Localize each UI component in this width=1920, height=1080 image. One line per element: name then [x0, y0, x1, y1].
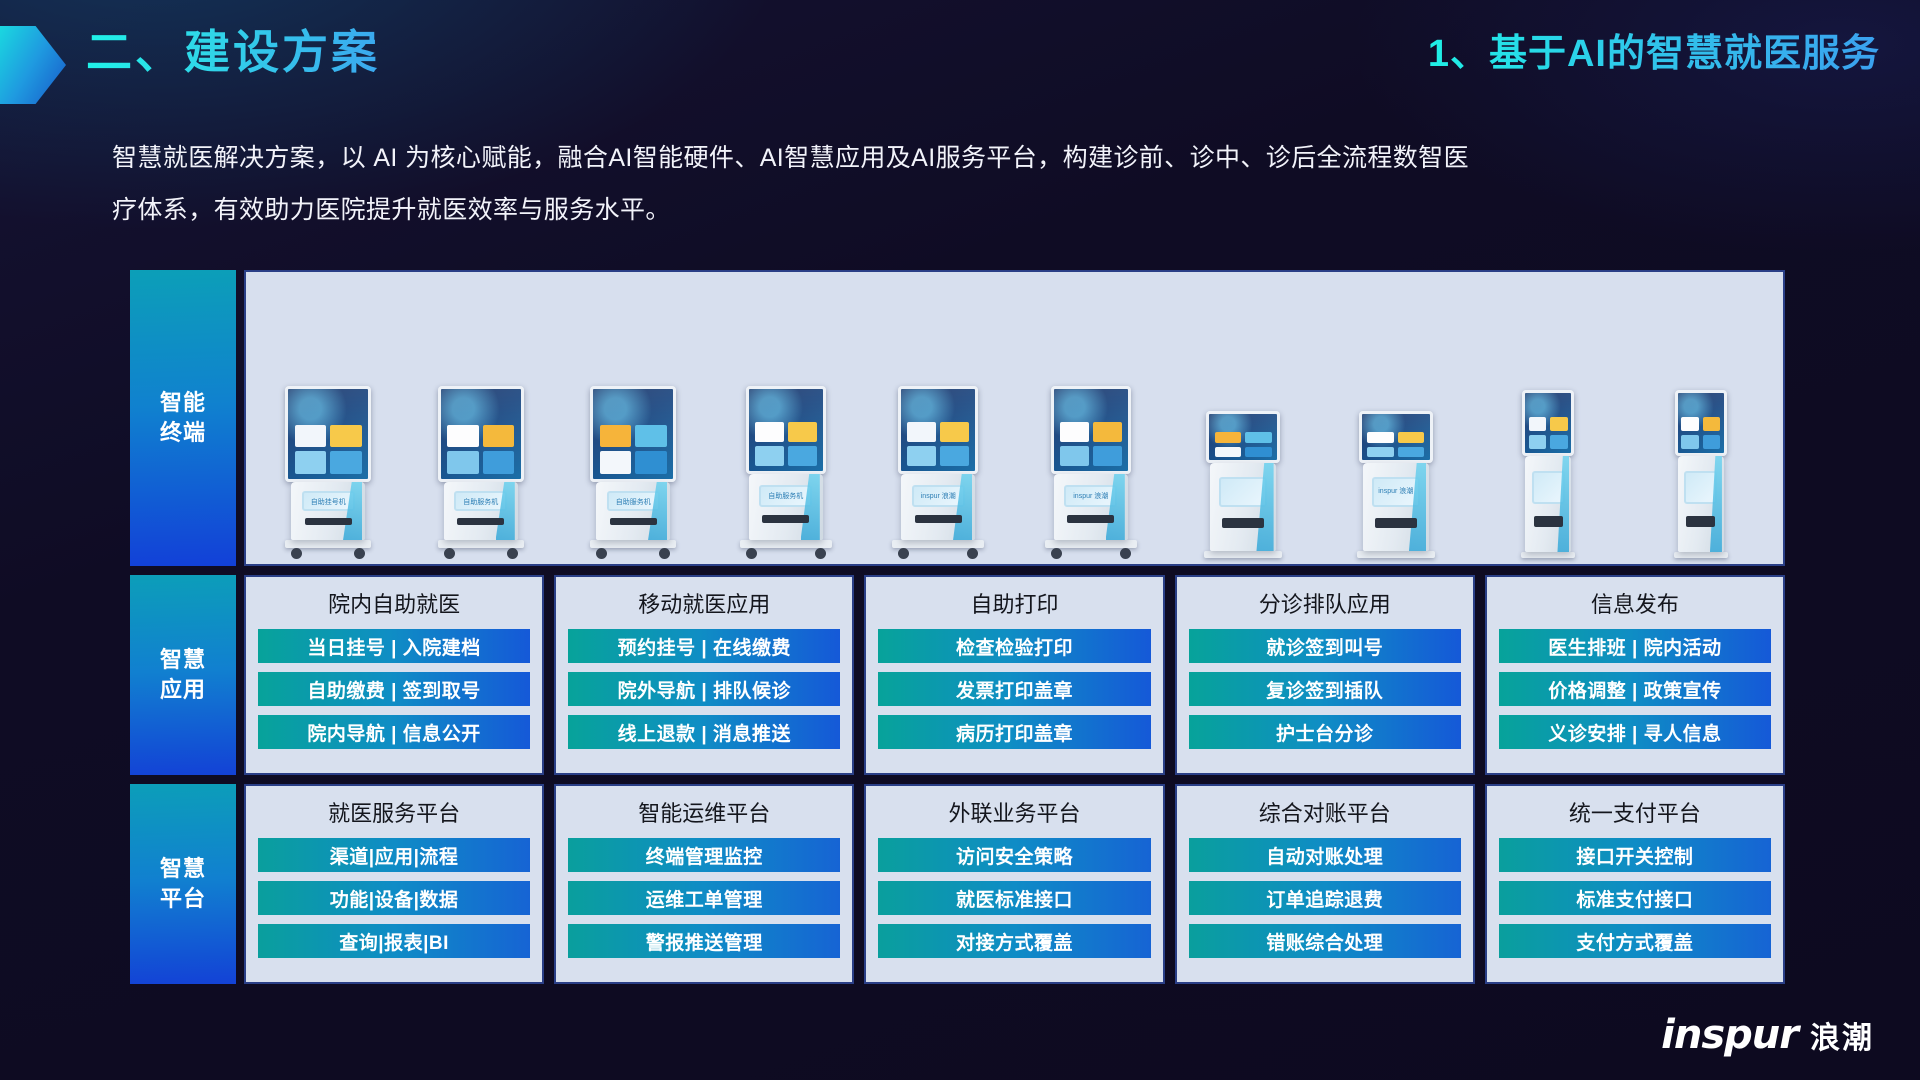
kiosk-wheels [590, 548, 676, 558]
pill-item[interactable]: 义诊安排 | 寻人信息 [1499, 715, 1771, 749]
card-title: 信息发布 [1499, 587, 1771, 623]
kiosk-card-slot-icon [1534, 516, 1563, 528]
kiosk-wheels [285, 548, 371, 558]
kiosk-caption: 自助服务机 [768, 491, 803, 501]
kiosk-card-slot-icon [610, 518, 657, 525]
kiosk-body [1525, 456, 1571, 552]
kiosk-body: 自助服务机 [444, 482, 518, 540]
pill-item[interactable]: 运维工单管理 [568, 881, 840, 915]
kiosk-body [1210, 463, 1276, 551]
card-title: 智能运维平台 [568, 796, 840, 832]
card[interactable]: 院内自助就医当日挂号 | 入院建档自助缴费 | 签到取号院内导航 | 信息公开 [244, 575, 544, 775]
kiosk-screen-icon [285, 386, 371, 482]
platform-cards: 就医服务平台渠道|应用|流程功能|设备|数据查询|报表|BI智能运维平台终端管理… [244, 784, 1785, 984]
inspur-chinese-name: 浪潮 [1810, 1013, 1874, 1057]
pill-list: 就诊签到叫号复诊签到插队护士台分诊 [1189, 629, 1461, 763]
card-title: 就医服务平台 [258, 796, 530, 832]
kiosk-card-slot-icon [1375, 518, 1417, 529]
card-title: 分诊排队应用 [1189, 587, 1461, 623]
kiosk-card-slot-icon [1686, 516, 1715, 528]
kiosk-caption: inspur 浪潮 [1073, 491, 1108, 501]
inspur-wordmark: inspur [1661, 1012, 1798, 1058]
kiosk-card-slot-icon [762, 515, 809, 523]
pill-list: 当日挂号 | 入院建档自助缴费 | 签到取号院内导航 | 信息公开 [258, 629, 530, 763]
terminals-panel: 自助挂号机自助服务机自助服务机自助服务机inspur 浪潮inspur 浪潮in… [244, 270, 1785, 566]
kiosk-screen-icon [1051, 386, 1131, 474]
kiosk-base [740, 540, 832, 548]
kiosk-terminal: inspur 浪潮 [1015, 282, 1168, 558]
pill-item[interactable]: 预约挂号 | 在线缴费 [568, 629, 840, 663]
kiosk-terminal: 自助挂号机 [252, 282, 405, 558]
pill-list: 预约挂号 | 在线缴费院外导航 | 排队候诊线上退款 | 消息推送 [568, 629, 840, 763]
brand-logo: inspur 浪潮 [1661, 1012, 1874, 1058]
pill-item[interactable]: 支付方式覆盖 [1499, 924, 1771, 958]
matrix-row-terminals: 智能终端 自助挂号机自助服务机自助服务机自助服务机inspur 浪潮inspur… [130, 270, 1785, 566]
card[interactable]: 综合对账平台自动对账处理订单追踪退费错账综合处理 [1175, 784, 1475, 984]
pill-item[interactable]: 访问安全策略 [878, 838, 1150, 872]
row-label-terminals: 智能终端 [130, 270, 236, 566]
page-title: 二、建设方案 [86, 22, 380, 82]
pill-item[interactable]: 自助缴费 | 签到取号 [258, 672, 530, 706]
pill-item[interactable]: 复诊签到插队 [1189, 672, 1461, 706]
kiosk-terminal: inspur 浪潮 [862, 282, 1015, 558]
card[interactable]: 外联业务平台访问安全策略就医标准接口对接方式覆盖 [864, 784, 1164, 984]
kiosk-base [1357, 551, 1435, 558]
pill-item[interactable]: 错账综合处理 [1189, 924, 1461, 958]
intro-line-2: 疗体系，有效助力医院提升就医效率与服务水平。 [112, 184, 1882, 236]
terminals-strip: 自助挂号机自助服务机自助服务机自助服务机inspur 浪潮inspur 浪潮in… [246, 272, 1783, 564]
intro-line-1: 智慧就医解决方案，以 AI 为核心赋能，融合AI智能硬件、AI智慧应用及AI服务… [112, 132, 1882, 184]
pill-item[interactable]: 渠道|应用|流程 [258, 838, 530, 872]
kiosk-screen-icon [1675, 390, 1727, 456]
kiosk-wheels [438, 548, 524, 558]
kiosk-card-slot-icon [1222, 518, 1264, 529]
pill-item[interactable]: 院内导航 | 信息公开 [258, 715, 530, 749]
card[interactable]: 信息发布医生排班 | 院内活动价格调整 | 政策宣传义诊安排 | 寻人信息 [1485, 575, 1785, 775]
pill-list: 医生排班 | 院内活动价格调整 | 政策宣传义诊安排 | 寻人信息 [1499, 629, 1771, 763]
kiosk-base [1674, 552, 1728, 558]
kiosk-screen-icon [438, 386, 524, 482]
kiosk-screen-icon [1359, 411, 1433, 463]
pill-item[interactable]: 订单追踪退费 [1189, 881, 1461, 915]
kiosk-wheels [892, 548, 984, 558]
row-label-terminals-text: 智能终端 [160, 388, 206, 448]
kiosk-base [1204, 551, 1282, 558]
card-title: 院内自助就医 [258, 587, 530, 623]
pill-item[interactable]: 终端管理监控 [568, 838, 840, 872]
pill-list: 终端管理监控运维工单管理警报推送管理 [568, 838, 840, 972]
kiosk-card-slot-icon [915, 515, 962, 523]
kiosk-card-slot-icon [1067, 515, 1114, 523]
card-title: 自助打印 [878, 587, 1150, 623]
kiosk-base [1045, 540, 1137, 548]
kiosk-screen-icon [1206, 411, 1280, 463]
kiosk-body: inspur 浪潮 [901, 474, 975, 540]
matrix-row-platforms: 智慧平台 就医服务平台渠道|应用|流程功能|设备|数据查询|报表|BI智能运维平… [130, 784, 1785, 984]
kiosk-body: 自助服务机 [749, 474, 823, 540]
kiosk-terminal [1472, 282, 1625, 558]
card-title: 统一支付平台 [1499, 796, 1771, 832]
kiosk-caption: 自助服务机 [463, 497, 498, 507]
pill-item[interactable]: 病历打印盖章 [878, 715, 1150, 749]
application-cards: 院内自助就医当日挂号 | 入院建档自助缴费 | 签到取号院内导航 | 信息公开移… [244, 575, 1785, 775]
kiosk-body: inspur 浪潮 [1054, 474, 1128, 540]
card[interactable]: 自助打印检查检验打印发票打印盖章病历打印盖章 [864, 575, 1164, 775]
card[interactable]: 智能运维平台终端管理监控运维工单管理警报推送管理 [554, 784, 854, 984]
kiosk-base [1521, 552, 1575, 558]
pill-item[interactable]: 就诊签到叫号 [1189, 629, 1461, 663]
solution-matrix: 智能终端 自助挂号机自助服务机自助服务机自助服务机inspur 浪潮inspur… [130, 270, 1785, 984]
pill-item[interactable]: 功能|设备|数据 [258, 881, 530, 915]
kiosk-card-slot-icon [305, 518, 352, 525]
pill-item[interactable]: 当日挂号 | 入院建档 [258, 629, 530, 663]
row-label-applications-text: 智慧应用 [160, 645, 206, 705]
pill-item[interactable]: 医生排班 | 院内活动 [1499, 629, 1771, 663]
row-label-platforms-text: 智慧平台 [160, 854, 206, 914]
pill-item[interactable]: 发票打印盖章 [878, 672, 1150, 706]
pill-item[interactable]: 护士台分诊 [1189, 715, 1461, 749]
kiosk-caption: 自助服务机 [616, 497, 651, 507]
kiosk-terminal: 自助服务机 [557, 282, 710, 558]
pill-item[interactable]: 检查检验打印 [878, 629, 1150, 663]
kiosk-base [590, 540, 676, 548]
slide-header: 二、建设方案 1、基于AI的智慧就医服务 [0, 22, 1920, 104]
kiosk-caption: 自助挂号机 [311, 497, 346, 507]
card[interactable]: 统一支付平台接口开关控制标准支付接口支付方式覆盖 [1485, 784, 1785, 984]
pill-item[interactable]: 查询|报表|BI [258, 924, 530, 958]
kiosk-terminal: 自助服务机 [405, 282, 558, 558]
slide-root: 二、建设方案 1、基于AI的智慧就医服务 智慧就医解决方案，以 AI 为核心赋能… [0, 0, 1920, 1080]
matrix-row-applications: 智慧应用 院内自助就医当日挂号 | 入院建档自助缴费 | 签到取号院内导航 | … [130, 575, 1785, 775]
pill-item[interactable]: 价格调整 | 政策宣传 [1499, 672, 1771, 706]
kiosk-terminal [1167, 282, 1320, 558]
kiosk-card-slot-icon [457, 518, 504, 525]
pill-item[interactable]: 接口开关控制 [1499, 838, 1771, 872]
pill-list: 访问安全策略就医标准接口对接方式覆盖 [878, 838, 1150, 972]
kiosk-base [438, 540, 524, 548]
card[interactable]: 移动就医应用预约挂号 | 在线缴费院外导航 | 排队候诊线上退款 | 消息推送 [554, 575, 854, 775]
kiosk-screen-icon [746, 386, 826, 474]
card-title: 外联业务平台 [878, 796, 1150, 832]
kiosk-screen-icon [590, 386, 676, 482]
kiosk-caption: inspur 浪潮 [921, 491, 956, 501]
kiosk-body: 自助服务机 [596, 482, 670, 540]
pill-list: 接口开关控制标准支付接口支付方式覆盖 [1499, 838, 1771, 972]
card[interactable]: 就医服务平台渠道|应用|流程功能|设备|数据查询|报表|BI [244, 784, 544, 984]
kiosk-wheels [1045, 548, 1137, 558]
kiosk-caption: inspur 浪潮 [1378, 486, 1413, 496]
kiosk-body: 自助挂号机 [291, 482, 365, 540]
kiosk-screen-icon [1522, 390, 1574, 456]
card-title: 综合对账平台 [1189, 796, 1461, 832]
row-label-applications: 智慧应用 [130, 575, 236, 775]
arrow-accent-icon [0, 26, 66, 104]
kiosk-terminal: inspur 浪潮 [1320, 282, 1473, 558]
pill-item[interactable]: 标准支付接口 [1499, 881, 1771, 915]
pill-item[interactable]: 对接方式覆盖 [878, 924, 1150, 958]
pill-list: 自动对账处理订单追踪退费错账综合处理 [1189, 838, 1461, 972]
pill-item[interactable]: 院外导航 | 排队候诊 [568, 672, 840, 706]
card-title: 移动就医应用 [568, 587, 840, 623]
row-label-platforms: 智慧平台 [130, 784, 236, 984]
kiosk-terminal: 自助服务机 [710, 282, 863, 558]
pill-item[interactable]: 警报推送管理 [568, 924, 840, 958]
pill-item[interactable]: 就医标准接口 [878, 881, 1150, 915]
kiosk-base [285, 540, 371, 548]
pill-list: 检查检验打印发票打印盖章病历打印盖章 [878, 629, 1150, 763]
kiosk-body [1678, 456, 1724, 552]
pill-item[interactable]: 线上退款 | 消息推送 [568, 715, 840, 749]
kiosk-terminal [1625, 282, 1778, 558]
kiosk-body: inspur 浪潮 [1363, 463, 1429, 551]
card[interactable]: 分诊排队应用就诊签到叫号复诊签到插队护士台分诊 [1175, 575, 1475, 775]
pill-item[interactable]: 自动对账处理 [1189, 838, 1461, 872]
pill-list: 渠道|应用|流程功能|设备|数据查询|报表|BI [258, 838, 530, 972]
kiosk-base [892, 540, 984, 548]
section-subtitle: 1、基于AI的智慧就医服务 [1428, 28, 1880, 80]
kiosk-screen-icon [898, 386, 978, 474]
intro-paragraph: 智慧就医解决方案，以 AI 为核心赋能，融合AI智能硬件、AI智慧应用及AI服务… [112, 132, 1882, 236]
kiosk-wheels [740, 548, 832, 558]
